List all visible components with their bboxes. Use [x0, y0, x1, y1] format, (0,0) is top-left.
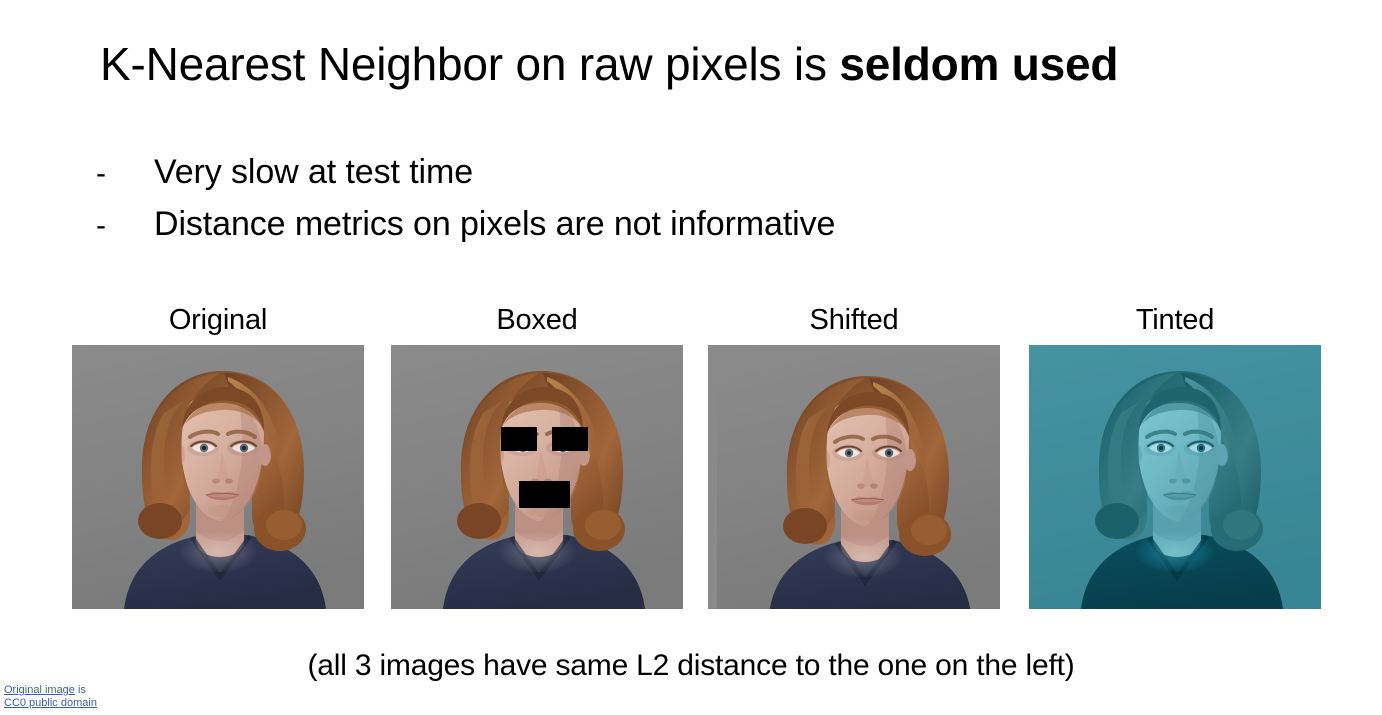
bullet-list: - Very slow at test time - Distance metr…: [96, 146, 1246, 250]
page-title-prefix: K-Nearest Neighbor on raw pixels is: [100, 38, 839, 90]
image-comparison-row: Original: [72, 300, 1330, 612]
portrait-image-shifted: [708, 345, 1000, 609]
censor-bar-right-eye: [552, 427, 588, 451]
bullet-item-1: - Distance metrics on pixels are not inf…: [96, 198, 1246, 250]
shift-translated-art: [717, 350, 1000, 609]
censor-bar-mouth: [519, 481, 570, 508]
attribution-credit: Original image is CC0 public domain: [4, 684, 97, 710]
panel-label-original: Original: [72, 300, 364, 345]
original-image-link[interactable]: Original image: [4, 684, 75, 696]
bullet-text: Very slow at test time: [154, 146, 473, 198]
panel-label-shifted: Shifted: [708, 300, 1000, 345]
portrait-image-original: [72, 345, 364, 609]
figure-caption: (all 3 images have same L2 distance to t…: [0, 645, 1382, 687]
attribution-connector: is: [75, 684, 86, 696]
panel-original: Original: [72, 300, 364, 609]
bullet-marker: -: [96, 148, 154, 200]
panel-label-boxed: Boxed: [391, 300, 683, 345]
bullet-marker: -: [96, 200, 154, 252]
panel-boxed: Boxed: [391, 300, 683, 609]
bullet-text: Distance metrics on pixels are not infor…: [154, 198, 835, 250]
cc0-license-link[interactable]: CC0 public domain: [4, 697, 97, 709]
censor-bar-left-eye: [501, 427, 537, 451]
attribution-line-1: Original image is: [4, 684, 97, 697]
attribution-line-2: CC0 public domain: [4, 697, 97, 710]
panel-shifted: Shifted: [708, 300, 1000, 609]
page-title-emphasis: seldom used: [839, 38, 1118, 90]
panel-label-tinted: Tinted: [1029, 300, 1321, 345]
bullet-item-0: - Very slow at test time: [96, 146, 1246, 198]
page-title: K-Nearest Neighbor on raw pixels is seld…: [100, 34, 1300, 94]
portrait-image-tinted: [1029, 345, 1321, 609]
portrait-image-boxed: [391, 345, 683, 609]
panel-tinted: Tinted: [1029, 300, 1321, 609]
